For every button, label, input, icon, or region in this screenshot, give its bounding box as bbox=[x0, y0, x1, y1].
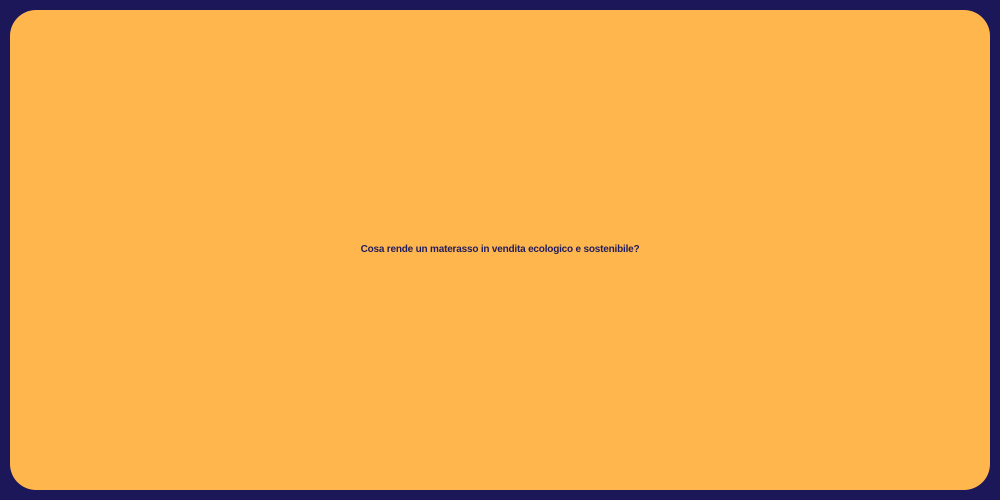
faq-question-heading: Cosa rende un materasso in vendita ecolo… bbox=[10, 244, 990, 257]
faq-card-panel: Cosa rende un materasso in vendita ecolo… bbox=[10, 10, 990, 490]
card-outer-frame: Cosa rende un materasso in vendita ecolo… bbox=[0, 0, 1000, 500]
